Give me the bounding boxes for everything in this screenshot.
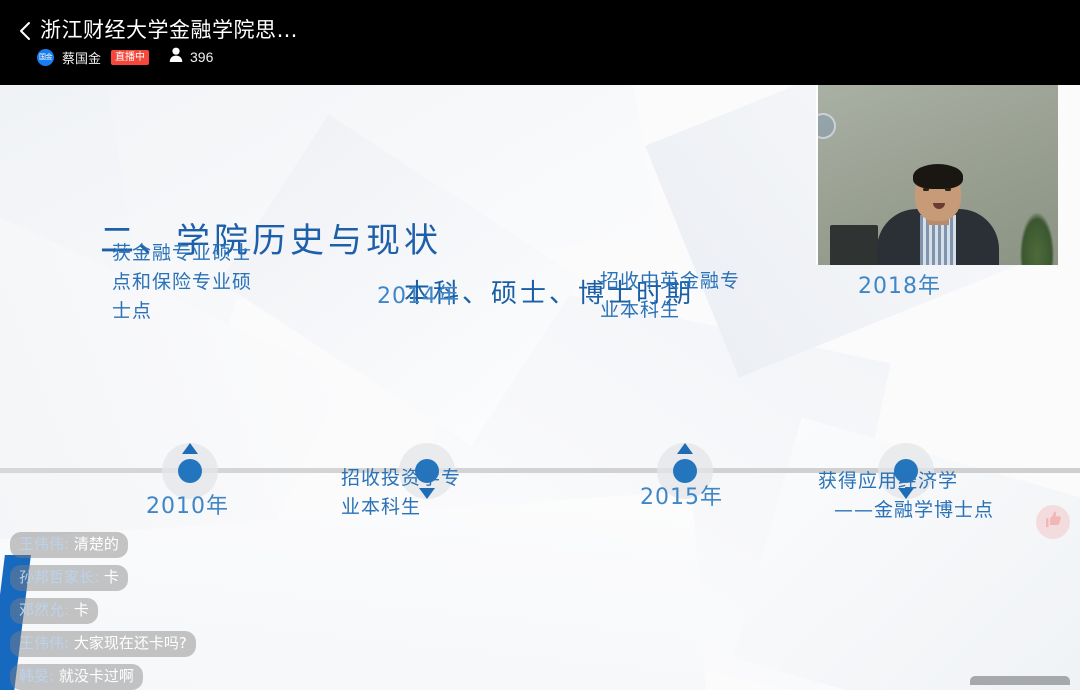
top-bar: 浙江财经大学金融学院思… 国金 蔡国金 直播中 396 bbox=[0, 0, 1080, 85]
video-person bbox=[877, 171, 999, 265]
chat-message-user: 王伟伟: bbox=[19, 535, 74, 553]
video-cabinet bbox=[830, 225, 878, 265]
person-eye-right bbox=[945, 188, 951, 191]
person-hair bbox=[913, 164, 963, 189]
video-plant bbox=[1020, 213, 1054, 265]
viewer-count: 396 bbox=[190, 49, 213, 65]
viewer-count-group: 396 bbox=[169, 47, 213, 67]
back-button[interactable] bbox=[10, 16, 40, 46]
timeline-label-1: 获金融专业硕士 点和保险专业硕 士点 bbox=[112, 239, 292, 326]
person-eye-left bbox=[923, 188, 929, 191]
timeline-year-2014: 2014年 bbox=[377, 278, 460, 310]
like-button[interactable] bbox=[1036, 505, 1070, 539]
triangle-up-icon bbox=[677, 443, 693, 454]
node-dot bbox=[178, 459, 202, 483]
avatar[interactable]: 国金 bbox=[37, 49, 54, 66]
thumbs-up-icon bbox=[1044, 510, 1063, 534]
chat-message: 韩旻: 就没卡过啊 bbox=[10, 664, 143, 690]
chat-message: 王伟伟: 大家现在还卡吗? bbox=[10, 631, 196, 657]
label-line: 业本科生 bbox=[600, 296, 780, 325]
triangle-up-icon bbox=[182, 443, 198, 454]
label-line: ——金融学博士点 bbox=[818, 496, 1018, 525]
chat-message-text: 卡 bbox=[104, 568, 119, 586]
chat-message-text: 卡 bbox=[74, 601, 89, 619]
speaker-video-thumbnail[interactable] bbox=[816, 85, 1058, 265]
timeline-year-2010: 2010年 bbox=[146, 488, 229, 520]
chat-message-text: 大家现在还卡吗? bbox=[74, 634, 187, 652]
label-line: 招收中英金融专 bbox=[600, 267, 780, 296]
chat-message: 孙邦哲家长: 卡 bbox=[10, 565, 128, 591]
chat-message-user: 孙邦哲家长: bbox=[19, 568, 104, 586]
chevron-left-icon bbox=[19, 21, 31, 41]
label-line: 获金融专业硕士 bbox=[112, 239, 292, 268]
person-icon bbox=[169, 47, 183, 67]
chat-message-text: 清楚的 bbox=[74, 535, 119, 553]
timeline-year-2018: 2018年 bbox=[858, 268, 941, 300]
bottom-control-bar[interactable] bbox=[970, 676, 1070, 685]
label-line: 士点 bbox=[112, 297, 292, 326]
label-line: 获得应用经济学 bbox=[818, 467, 1018, 496]
status-badge: 直播中 bbox=[111, 50, 149, 65]
timeline-label-6: 招收投资学专 业本科生 bbox=[341, 464, 521, 522]
label-line: 业本科生 bbox=[341, 493, 521, 522]
chat-message: 王伟伟: 清楚的 bbox=[10, 532, 128, 558]
chat-message-user: 王伟伟: bbox=[19, 634, 74, 652]
chat-message: 邓然允: 卡 bbox=[10, 598, 98, 624]
chat-overlay: 王伟伟: 清楚的孙邦哲家长: 卡邓然允: 卡王伟伟: 大家现在还卡吗?韩旻: 就… bbox=[10, 532, 430, 690]
host-name: 蔡国金 bbox=[62, 48, 101, 67]
label-line: 点和保险专业硕 bbox=[112, 268, 292, 297]
timeline-year-2015: 2015年 bbox=[640, 479, 723, 511]
chat-message-user: 韩旻: bbox=[19, 667, 59, 685]
timeline-label-8: 获得应用经济学 ——金融学博士点 bbox=[818, 467, 1018, 525]
label-line: 招收投资学专 bbox=[341, 464, 521, 493]
chat-message-text: 就没卡过啊 bbox=[59, 667, 134, 685]
page-title: 浙江财经大学金融学院思… bbox=[40, 16, 298, 44]
timeline-label-3: 招收中英金融专 业本科生 bbox=[600, 267, 780, 325]
host-meta-row: 国金 蔡国金 直播中 396 bbox=[37, 47, 213, 67]
chat-message-user: 邓然允: bbox=[19, 601, 74, 619]
